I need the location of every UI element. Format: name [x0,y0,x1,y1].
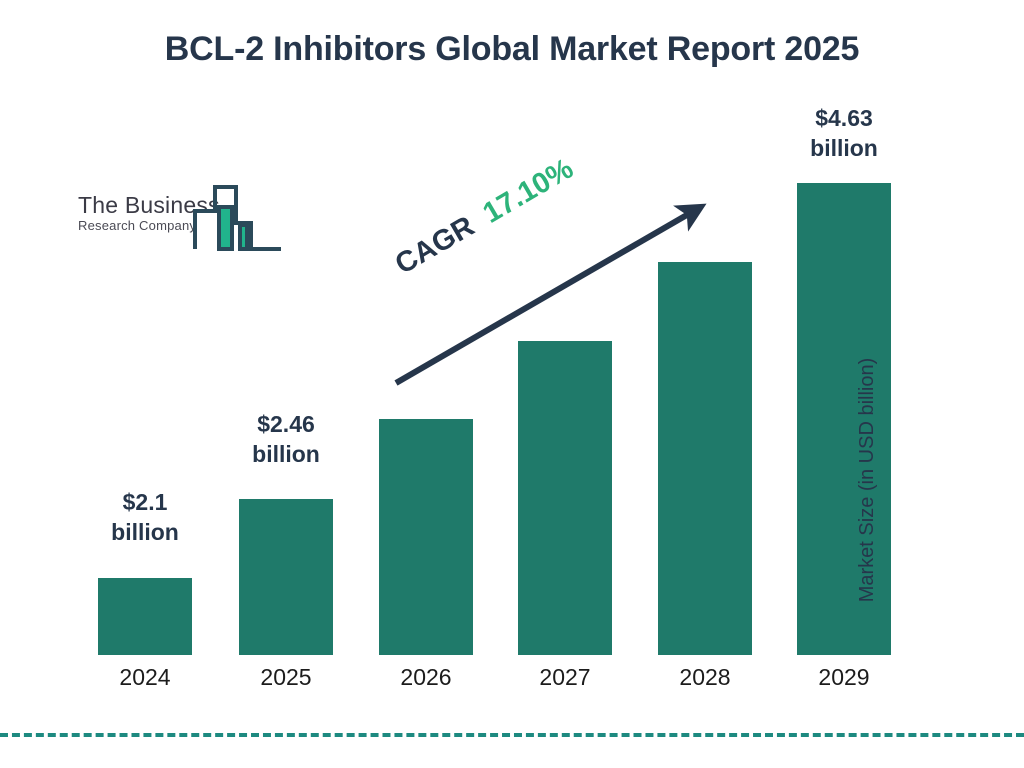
bar-value-2025-unit: billion [216,439,356,469]
xtick-2028: 2028 [658,662,752,692]
bar-2027 [518,341,612,655]
bar-value-2029-amount: $4.63 [774,103,914,133]
y-axis-label: Market Size (in USD billion) [856,300,886,660]
xtick-2027: 2027 [518,662,612,692]
xtick-2029: 2029 [797,662,891,692]
xtick-2024: 2024 [98,662,192,692]
cagr-label-word: CAGR [390,210,480,281]
bar-value-2029: $4.63 billion [774,103,914,163]
cagr-label-value: 17.10% [478,153,579,230]
bar-value-2024-amount: $2.1 [75,487,215,517]
plot-area: $2.1 billion $2.46 billion $4.63 billion… [0,0,1024,768]
xtick-2026: 2026 [379,662,473,692]
bar-2026 [379,419,473,655]
bar-value-2025: $2.46 billion [216,409,356,469]
cagr-annotation: CAGR 17.10% [389,137,605,282]
chart-canvas: BCL-2 Inhibitors Global Market Report 20… [0,0,1024,768]
bar-2024 [98,578,192,655]
bar-value-2029-unit: billion [774,133,914,163]
bar-value-2024-unit: billion [75,517,215,547]
bar-value-2024: $2.1 billion [75,487,215,547]
bar-2025 [239,499,333,655]
xtick-2025: 2025 [239,662,333,692]
bar-value-2025-amount: $2.46 [216,409,356,439]
footer-divider [0,733,1024,737]
bar-2028 [658,262,752,655]
